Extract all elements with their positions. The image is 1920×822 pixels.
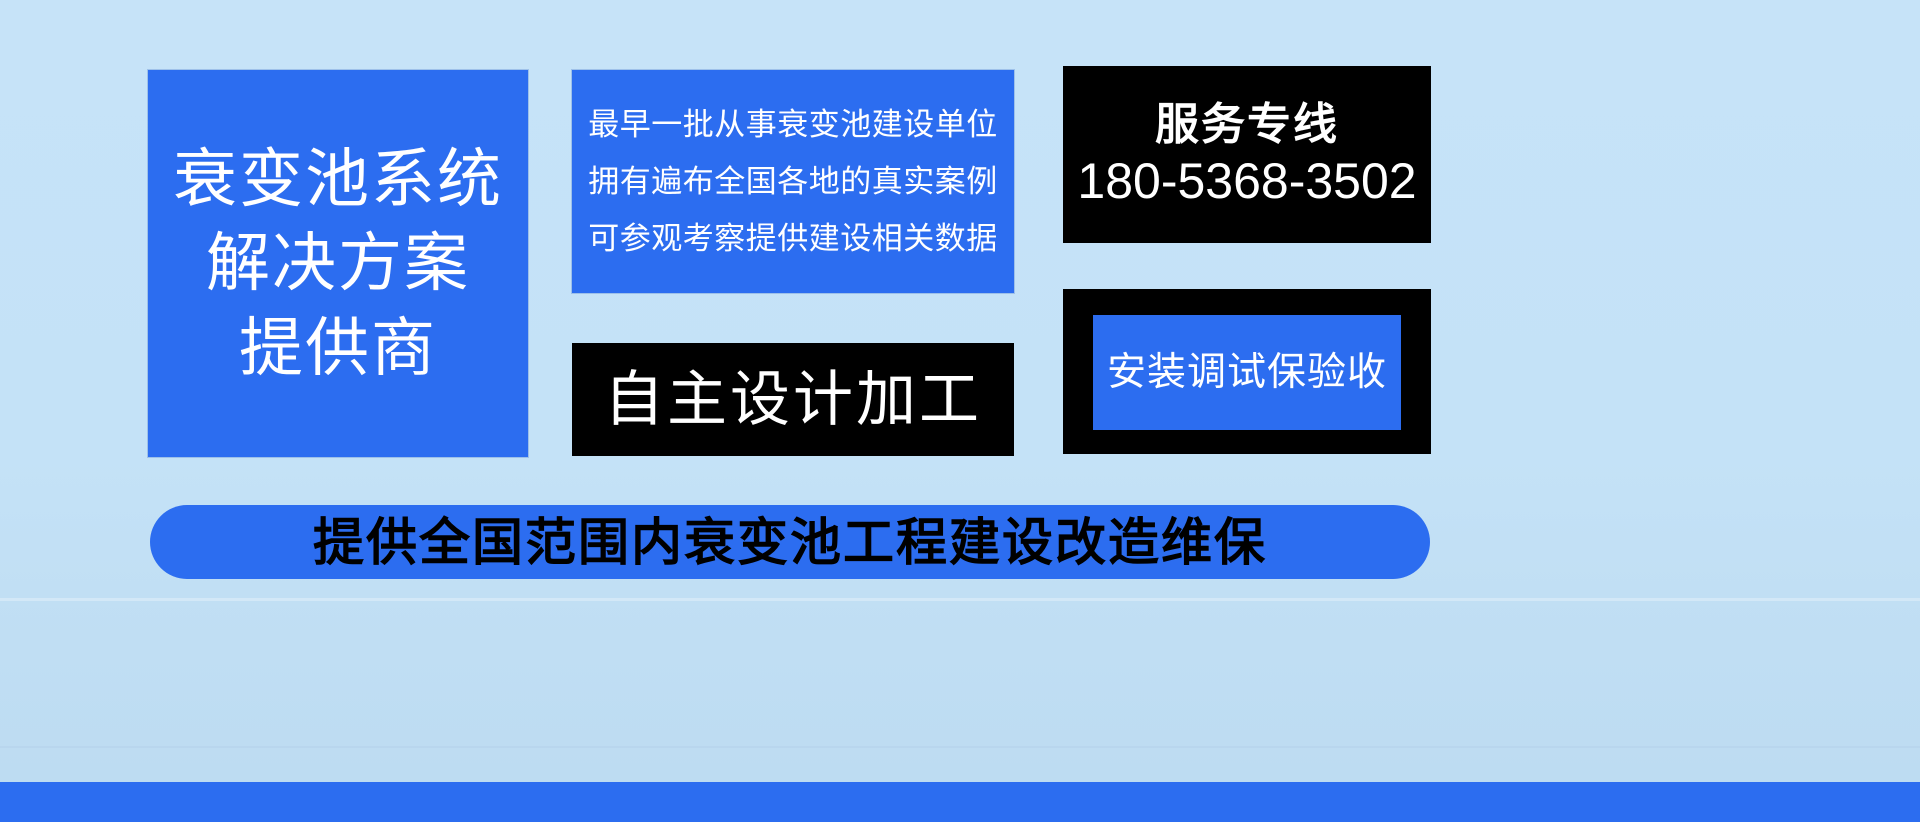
- background-seam-lower: [0, 746, 1920, 748]
- design-capability-text: 自主设计加工: [604, 370, 982, 430]
- coverage-banner: 提供全国范围内衰变池工程建设改造维保: [150, 505, 1430, 579]
- service-guarantee-inner: 安装调试保验收: [1093, 315, 1401, 430]
- selling-point-3: 可参观考察提供建设相关数据: [588, 223, 998, 254]
- hotline-panel: 服务专线 180-5368-3502: [1063, 66, 1431, 243]
- selling-point-1: 最早一批从事衰变池建设单位: [588, 109, 998, 140]
- hotline-phone-number[interactable]: 180-5368-3502: [1077, 153, 1416, 209]
- hero-headline-panel: 衰变池系统 解决方案 提供商: [148, 70, 528, 457]
- hero-line-1: 衰变池系统: [173, 137, 503, 221]
- selling-point-2: 拥有遍布全国各地的真实案例: [588, 166, 998, 197]
- coverage-banner-text: 提供全国范围内衰变池工程建设改造维保: [313, 517, 1267, 568]
- design-capability-panel: 自主设计加工: [572, 343, 1014, 456]
- service-guarantee-text: 安装调试保验收: [1107, 353, 1387, 392]
- selling-points-panel: 最早一批从事衰变池建设单位 拥有遍布全国各地的真实案例 可参观考察提供建设相关数…: [572, 70, 1014, 293]
- bottom-accent-strip: [0, 782, 1920, 822]
- hero-line-2: 解决方案: [206, 221, 470, 305]
- background-seam-upper: [0, 598, 1920, 601]
- hero-line-3: 提供商: [239, 306, 437, 390]
- promo-poster: 衰变池系统 解决方案 提供商 最早一批从事衰变池建设单位 拥有遍布全国各地的真实…: [0, 0, 1920, 822]
- hotline-label: 服务专线: [1155, 100, 1339, 149]
- service-guarantee-panel: 安装调试保验收: [1063, 289, 1431, 454]
